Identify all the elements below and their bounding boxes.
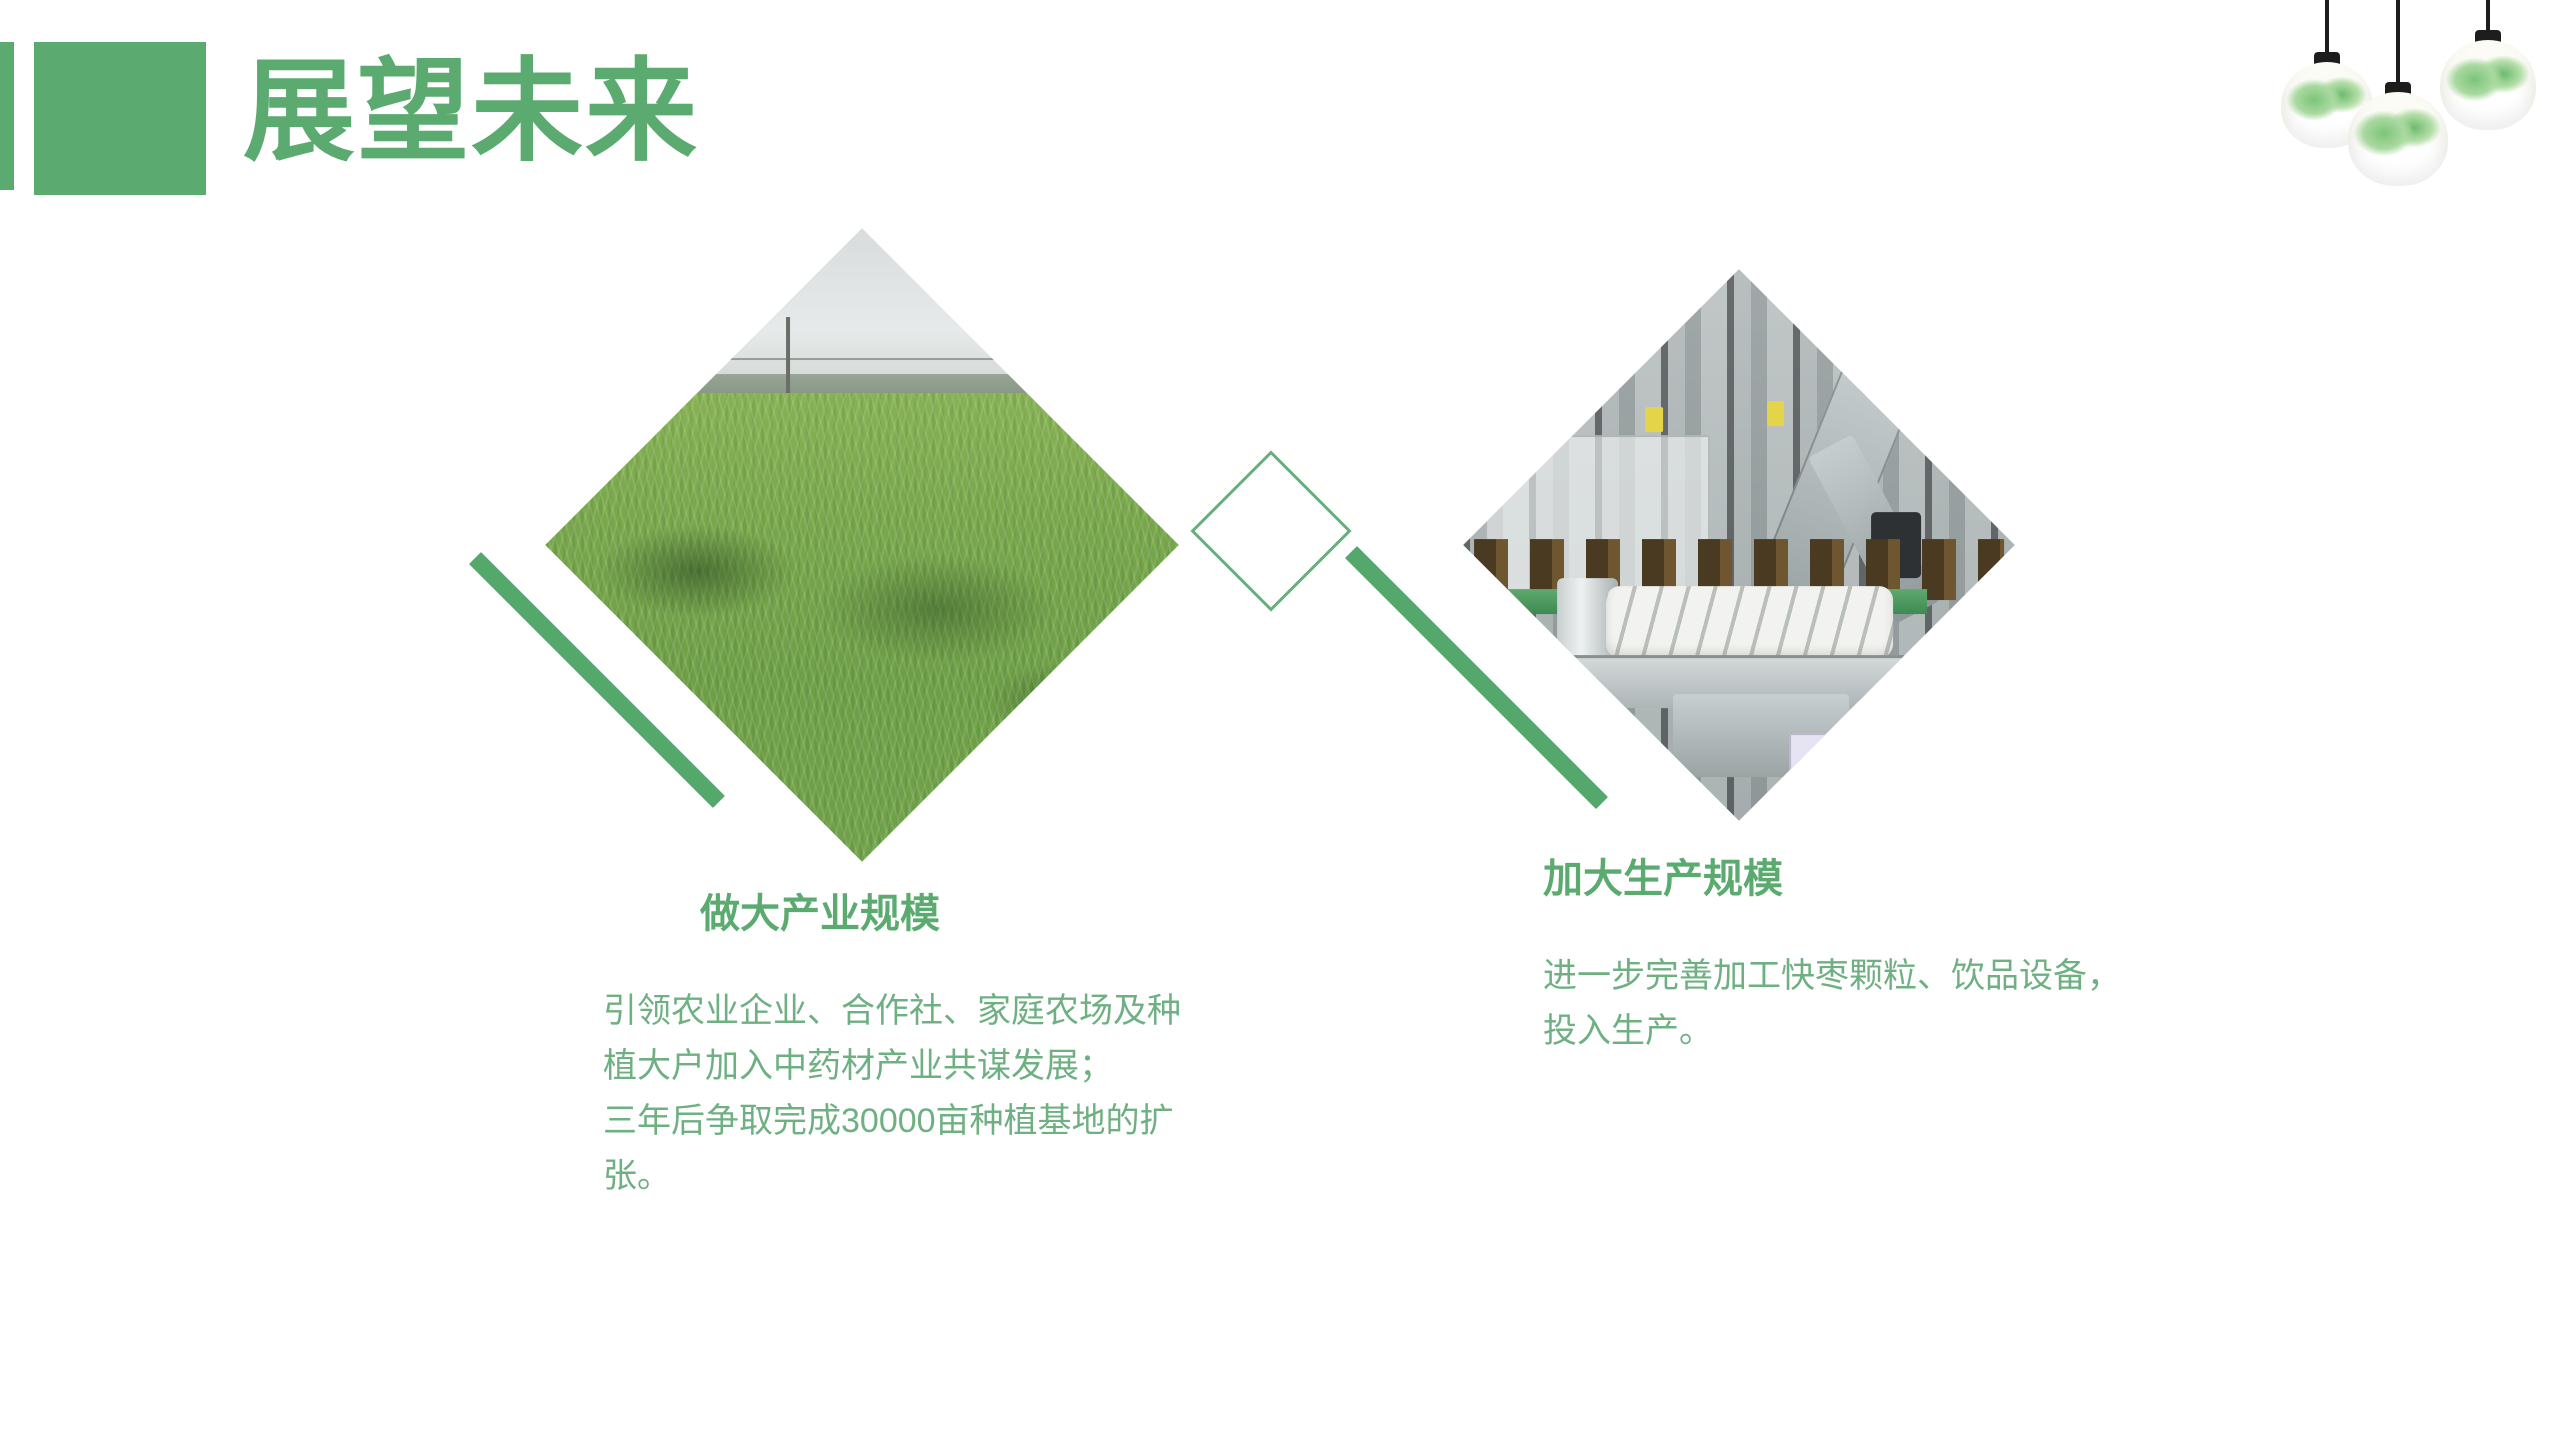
page-title: 展望未来 (243, 40, 699, 183)
lamp-globe-icon (2440, 40, 2536, 130)
field-photo-diamond (545, 228, 1179, 862)
slide-canvas: 展望未来 (0, 0, 2560, 1440)
pendant-lamps-decoration (2260, 0, 2560, 210)
left-column-heading: 做大产业规模 (603, 890, 1203, 938)
lamp-cord-icon (2396, 0, 2400, 88)
right-column-body: 进一步完善加工快枣颗粒、饮品设备，投入生产。 (1543, 949, 2123, 1059)
title-accent-block (34, 42, 206, 195)
power-line (545, 358, 1179, 360)
right-column-heading: 加大生产规模 (1543, 855, 2123, 903)
yellow-label-2 (1767, 402, 1785, 427)
white-screw-feeder (1607, 586, 1894, 658)
yellow-label-1 (1645, 407, 1663, 432)
field-scene (545, 228, 1179, 862)
title-accent-bar (0, 42, 14, 190)
left-column-body: 引领农业企业、合作社、家庭农场及种植大户加入中药材产业共谋发展； 三年后争取完成… (603, 984, 1203, 1204)
operator-screen (1789, 733, 1854, 787)
field-photo (545, 228, 1179, 862)
lamp-cord-icon (2325, 0, 2329, 58)
pendant-lamp-right (2432, 0, 2544, 140)
left-text-column: 做大产业规模 引领农业企业、合作社、家庭农场及种植大户加入中药材产业共谋发展； … (603, 890, 1203, 1204)
herb-field (545, 393, 1179, 862)
right-text-column: 加大生产规模 进一步完善加工快枣颗粒、饮品设备，投入生产。 (1543, 855, 2123, 1059)
center-outline-diamond (1190, 450, 1351, 611)
